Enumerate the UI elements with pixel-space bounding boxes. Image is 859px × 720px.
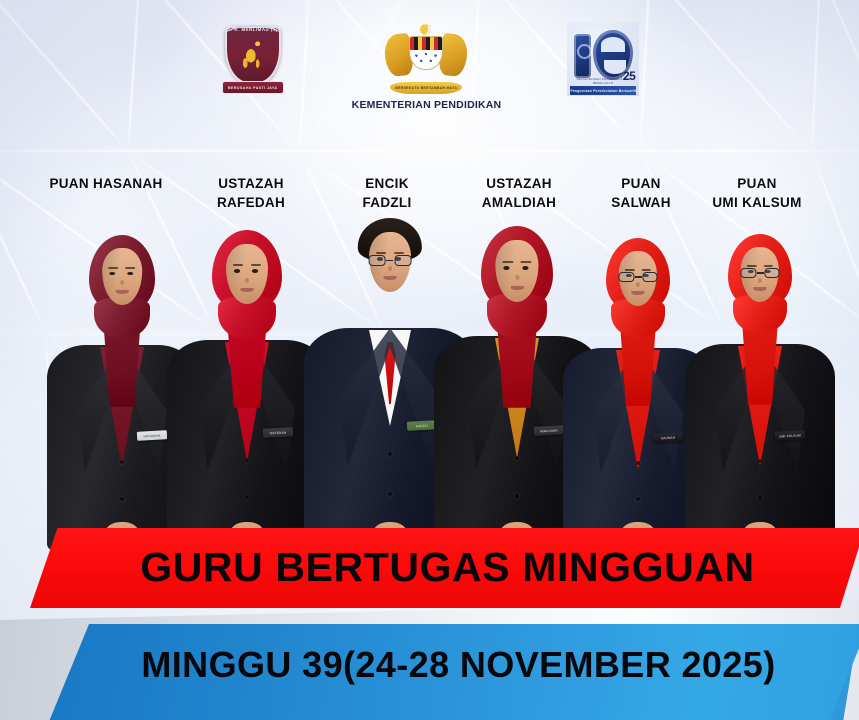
teacher-head-5 — [606, 238, 670, 318]
is25-letter-i — [574, 34, 591, 78]
blazer-button — [515, 456, 519, 460]
face-4 — [495, 240, 538, 302]
lens-right — [642, 272, 658, 282]
tiger-right-icon — [438, 33, 469, 78]
eyeglasses-6 — [740, 268, 779, 278]
is25-icon: 25 PENGURUSAN PERSEKOLAHAN BERKUALITI Pe… — [567, 22, 639, 96]
face-2 — [226, 244, 268, 304]
face-shading — [226, 244, 268, 304]
teacher-portrait-2: RAFEDAH — [167, 230, 327, 550]
jata-motto-scroll: BERSEKUTU BERTAMBAH MUTU — [390, 82, 462, 94]
header-logo-row: S. K. MERLIMAU (1) BERUSAHA PASTI JAYA B… — [0, 22, 859, 122]
crest-lion-icon — [238, 39, 266, 69]
lens-right — [394, 255, 411, 266]
school-crest-logo: S. K. MERLIMAU (1) BERUSAHA PASTI JAYA — [220, 22, 286, 98]
lens-left — [369, 255, 386, 266]
glasses-bridge — [635, 276, 642, 278]
teacher-head-6 — [728, 234, 792, 314]
face-shading — [102, 248, 142, 305]
school-crest-icon: S. K. MERLIMAU (1) BERUSAHA PASTI JAYA — [220, 22, 286, 98]
jata-negara-icon: BERSEKUTU BERTAMBAH MUTU — [376, 22, 476, 96]
is25-band-text: Pengurusan Persekolahan Berkualiti — [570, 89, 636, 93]
ministry-logo: BERSEKUTU BERTAMBAH MUTU KEMENTERIAN PEN… — [352, 22, 502, 111]
blazer-button — [120, 460, 124, 464]
ministry-label: KEMENTERIAN PENDIDIKAN — [352, 99, 502, 111]
lens-left — [740, 268, 756, 278]
teacher-portrait-6: UMI KALSUM — [685, 234, 835, 550]
lens-right — [764, 268, 780, 278]
teacher-name-6: PUAN UMI KALSUM — [667, 174, 847, 212]
name-badge-4: AMALDIAH — [533, 425, 563, 436]
jata-shield-states — [410, 50, 442, 66]
blazer-button — [245, 458, 249, 462]
name-badge-6: UMI KALSUM — [775, 430, 805, 441]
name-badge-5: SALWAH — [653, 432, 683, 443]
subtitle-banner: MINGGU 39(24-28 NOVEMBER 2025) — [48, 624, 859, 720]
teacher-head-2 — [212, 230, 282, 318]
crest-ribbon-text: BERUSAHA PASTI JAYA — [228, 86, 278, 90]
glasses-bridge — [386, 260, 393, 262]
title-banner: GURU BERTUGAS MINGGUAN — [30, 528, 859, 608]
bottom-banner-group: GURU BERTUGAS MINGGUAN MINGGU 39(24-28 N… — [0, 520, 859, 720]
glasses-bridge — [757, 272, 764, 274]
name-badge-2: RAFEDAH — [263, 427, 293, 438]
is25-band: Pengurusan Persekolahan Berkualiti — [570, 86, 636, 95]
teacher-head-4 — [481, 226, 553, 316]
name-badge-1: HASANAH — [137, 430, 167, 441]
jata-motto-text: BERSEKUTU BERTAMBAH MUTU — [390, 82, 462, 94]
eyeglasses-5 — [618, 272, 657, 282]
crest-top-text: S. K. MERLIMAU (1) — [220, 27, 286, 32]
teacher-name-row: PUAN HASANAHUSTAZAH RAFEDAHENCIK FADZLIU… — [0, 174, 859, 234]
face-shading — [495, 240, 538, 302]
is25-number: 25 — [623, 69, 635, 83]
jata-shield-bars — [410, 37, 442, 50]
lens-left — [618, 272, 634, 282]
is25-logo: 25 PENGURUSAN PERSEKOLAHAN BERKUALITI Pe… — [567, 22, 639, 96]
face-1 — [102, 248, 142, 305]
crest-ribbon: BERUSAHA PASTI JAYA — [222, 81, 284, 94]
name-badge-3: FADZLI — [407, 420, 437, 431]
poster-title: GURU BERTUGAS MINGGUAN — [140, 544, 755, 591]
poster-canvas: S. K. MERLIMAU (1) BERUSAHA PASTI JAYA B… — [0, 0, 859, 720]
poster-subtitle: MINGGU 39(24-28 NOVEMBER 2025) — [141, 644, 775, 686]
eyeglasses-3 — [369, 255, 412, 266]
jata-shield — [409, 36, 443, 70]
blazer-button — [120, 497, 124, 501]
teacher-head-1 — [89, 235, 155, 318]
